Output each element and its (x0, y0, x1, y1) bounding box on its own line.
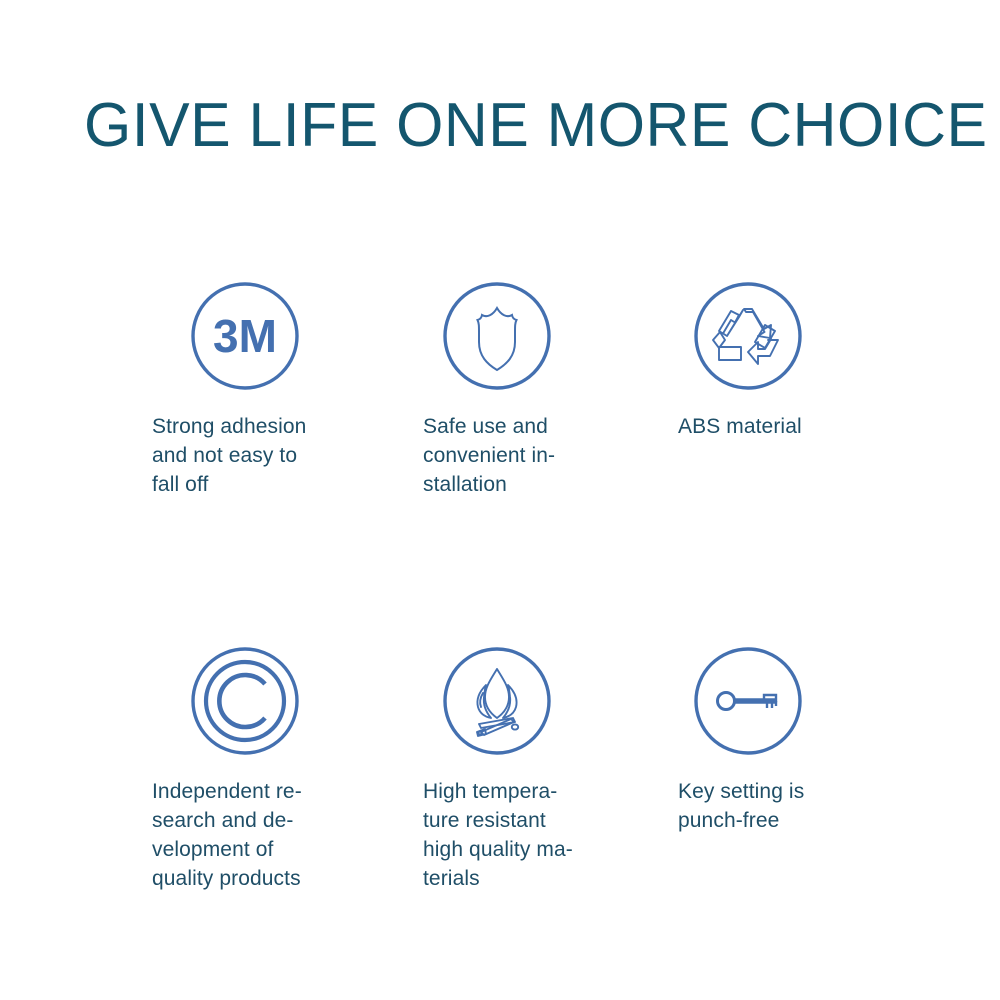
copyright-icon (189, 645, 301, 757)
recycle-icon (692, 280, 804, 392)
icon-container (371, 645, 623, 757)
3m-badge-label: 3M (213, 310, 277, 362)
feature-caption: Independent re- search and de- velopment… (119, 777, 371, 893)
icon-container: 3M (119, 280, 371, 392)
shield-icon (441, 280, 553, 392)
3m-badge-icon: 3M (189, 280, 301, 392)
feature-caption: ABS material (622, 412, 874, 441)
feature-card-high-temperature: High tempera- ture resistant high qualit… (371, 645, 623, 893)
icon-container (119, 645, 371, 757)
product-feature-poster: GIVE LIFE ONE MORE CHOICE 3M Strong adhe… (0, 0, 1000, 1000)
feature-card-independent-rnd: Independent re- search and de- velopment… (119, 645, 371, 893)
feature-card-abs-material: ABS material (622, 280, 874, 441)
key-icon (692, 645, 804, 757)
feature-caption: Strong adhesion and not easy to fall off (119, 412, 371, 499)
icon-container (622, 280, 874, 392)
feature-caption: High tempera- ture resistant high qualit… (371, 777, 623, 893)
feature-caption: Safe use and convenient in- stallation (371, 412, 623, 499)
icon-container (622, 645, 874, 757)
feature-card-3m: 3M Strong adhesion and not easy to fall … (119, 280, 371, 499)
feature-caption: Key setting is punch-free (622, 777, 874, 835)
feature-card-key-setting: Key setting is punch-free (622, 645, 874, 835)
icon-container (371, 280, 623, 392)
feature-grid: 3M Strong adhesion and not easy to fall … (0, 0, 1000, 1000)
campfire-flame-icon (441, 645, 553, 757)
feature-card-safe-use: Safe use and convenient in- stallation (371, 280, 623, 499)
